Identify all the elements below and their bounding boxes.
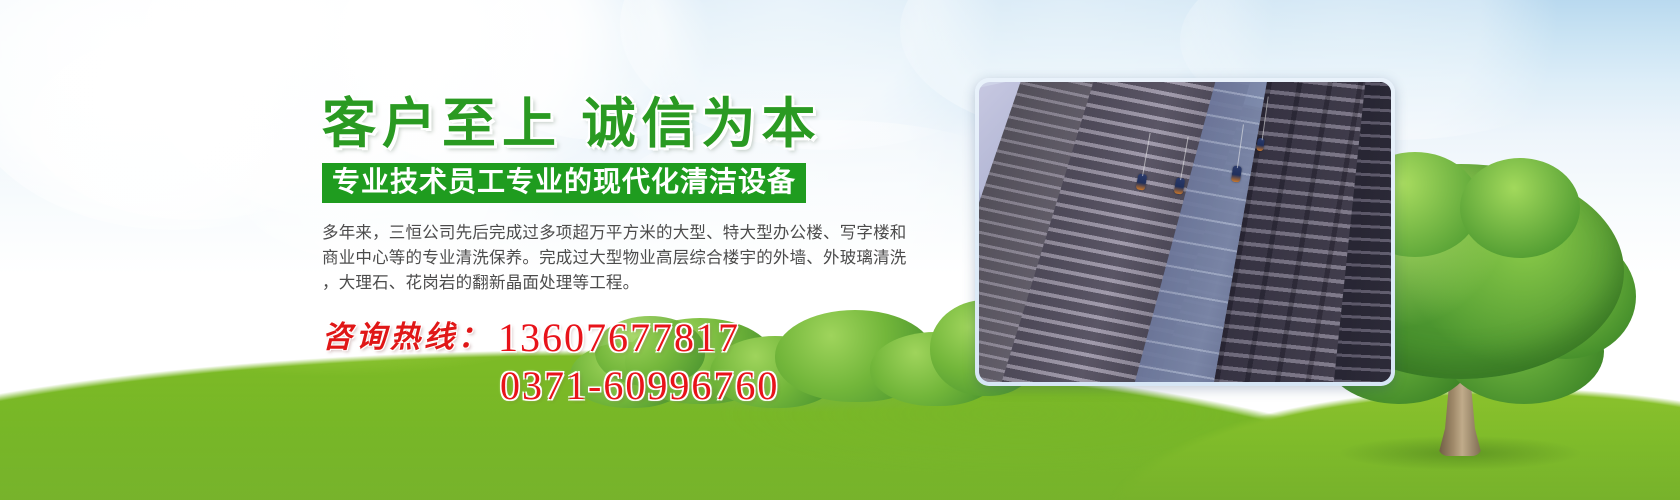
banner-content: 客户至上 诚信为本 专业技术员工专业的现代化清洁设备 多年来，三恒公司先后完成过… [322,96,902,406]
building-photo-frame [975,78,1395,386]
description-line-1: 多年来，三恒公司先后完成过多项超万平方米的大型、特大型办公楼、写字楼和 [322,221,887,246]
hotline-secondary-row: 0371-60996760 [322,366,902,406]
hotline-label: 咨询热线： [322,321,492,354]
hotline-primary-row: 咨询热线：13607677817 [322,318,902,358]
subtitle-green-bar: 专业技术员工专业的现代化清洁设备 [322,163,806,204]
description-paragraph: 多年来，三恒公司先后完成过多项超万平方米的大型、特大型办公楼、写字楼和 商业中心… [322,221,887,296]
description-line-2: 商业中心等的专业清洗保养。完成过大型物业高层综合楼宇的外墙、外玻璃清洗 [322,246,887,271]
hotline-landline-number[interactable]: 0371-60996760 [500,363,779,408]
description-line-3: ，大理石、花岗岩的翻新晶面处理等工程。 [322,271,887,296]
headline-slogan: 客户至上 诚信为本 [322,96,902,153]
building-photo [979,82,1391,382]
promo-banner: 客户至上 诚信为本 专业技术员工专业的现代化清洁设备 多年来，三恒公司先后完成过… [0,0,1680,500]
hotline-mobile-number[interactable]: 13607677817 [498,315,740,360]
